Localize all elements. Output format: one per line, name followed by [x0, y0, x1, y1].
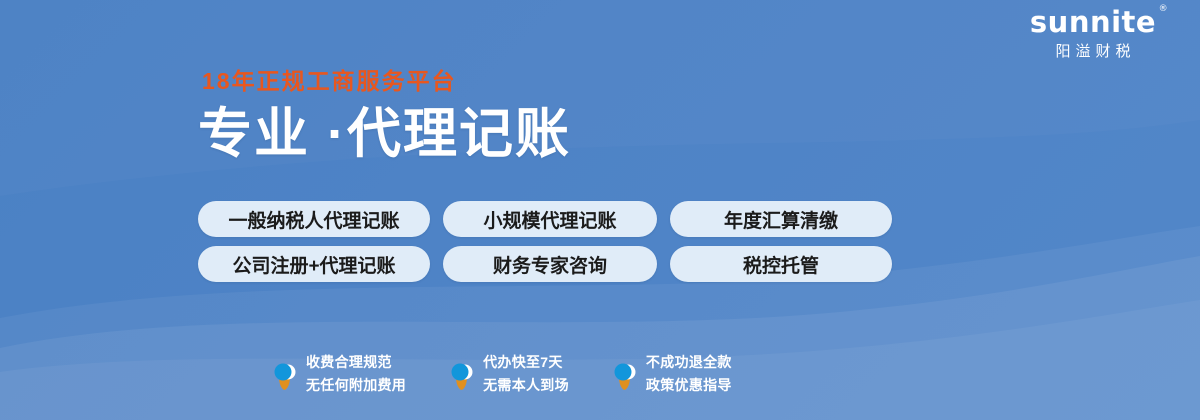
service-tag-finance-consulting[interactable]: 财务专家咨询 — [443, 246, 657, 282]
feature-item-guarantee: 不成功退全款 政策优惠指导 — [612, 352, 732, 397]
feature-line-1: 代办快至7天 — [483, 354, 563, 370]
service-tag-annual-settlement[interactable]: 年度汇算清缴 — [670, 201, 892, 237]
circle-crescent-icon — [272, 359, 297, 391]
brand-logo[interactable]: sunnite ® 阳溢财税 — [1008, 8, 1178, 59]
feature-text-pricing: 收费合理规范 无任何附加费用 — [306, 352, 406, 397]
brand-logo-chinese: 阳溢财税 — [1008, 44, 1178, 59]
registered-trademark-icon: ® — [1159, 5, 1169, 14]
brand-logo-text: sunnite — [1030, 5, 1156, 39]
promo-banner: sunnite ® 阳溢财税 18年正规工商服务平台 专业 ·代理记账 一般纳税… — [0, 0, 1200, 420]
service-tag-tax-control-custody[interactable]: 税控托管 — [670, 246, 892, 282]
feature-highlight-list: 收费合理规范 无任何附加费用 代办快至7天 无需本人到场 — [272, 352, 732, 397]
feature-item-pricing: 收费合理规范 无任何附加费用 — [272, 352, 406, 397]
feature-line-1: 不成功退全款 — [646, 354, 732, 370]
feature-line-2: 无任何附加费用 — [306, 377, 406, 393]
feature-line-2: 政策优惠指导 — [646, 377, 732, 393]
feature-item-speed: 代办快至7天 无需本人到场 — [449, 352, 569, 397]
service-tag-list: 一般纳税人代理记账 小规模代理记账 年度汇算清缴 公司注册+代理记账 财务专家咨… — [198, 201, 892, 291]
feature-text-speed: 代办快至7天 无需本人到场 — [483, 352, 569, 397]
brand-logo-mark: sunnite ® — [1030, 8, 1156, 37]
hero-eyebrow: 18年正规工商服务平台 — [202, 70, 571, 93]
feature-line-2: 无需本人到场 — [483, 377, 569, 393]
hero-headline: 专业 ·代理记账 — [198, 107, 571, 161]
service-tag-small-scale[interactable]: 小规模代理记账 — [443, 201, 657, 237]
service-tag-row: 公司注册+代理记账 财务专家咨询 税控托管 — [198, 246, 892, 282]
feature-line-1: 收费合理规范 — [306, 354, 392, 370]
feature-text-guarantee: 不成功退全款 政策优惠指导 — [646, 352, 732, 397]
circle-crescent-icon — [612, 359, 637, 391]
service-tag-row: 一般纳税人代理记账 小规模代理记账 年度汇算清缴 — [198, 201, 892, 237]
service-tag-general-taxpayer[interactable]: 一般纳税人代理记账 — [198, 201, 430, 237]
service-tag-company-registration[interactable]: 公司注册+代理记账 — [198, 246, 430, 282]
hero-text-block: 18年正规工商服务平台 专业 ·代理记账 — [198, 70, 571, 161]
circle-crescent-icon — [449, 359, 474, 391]
